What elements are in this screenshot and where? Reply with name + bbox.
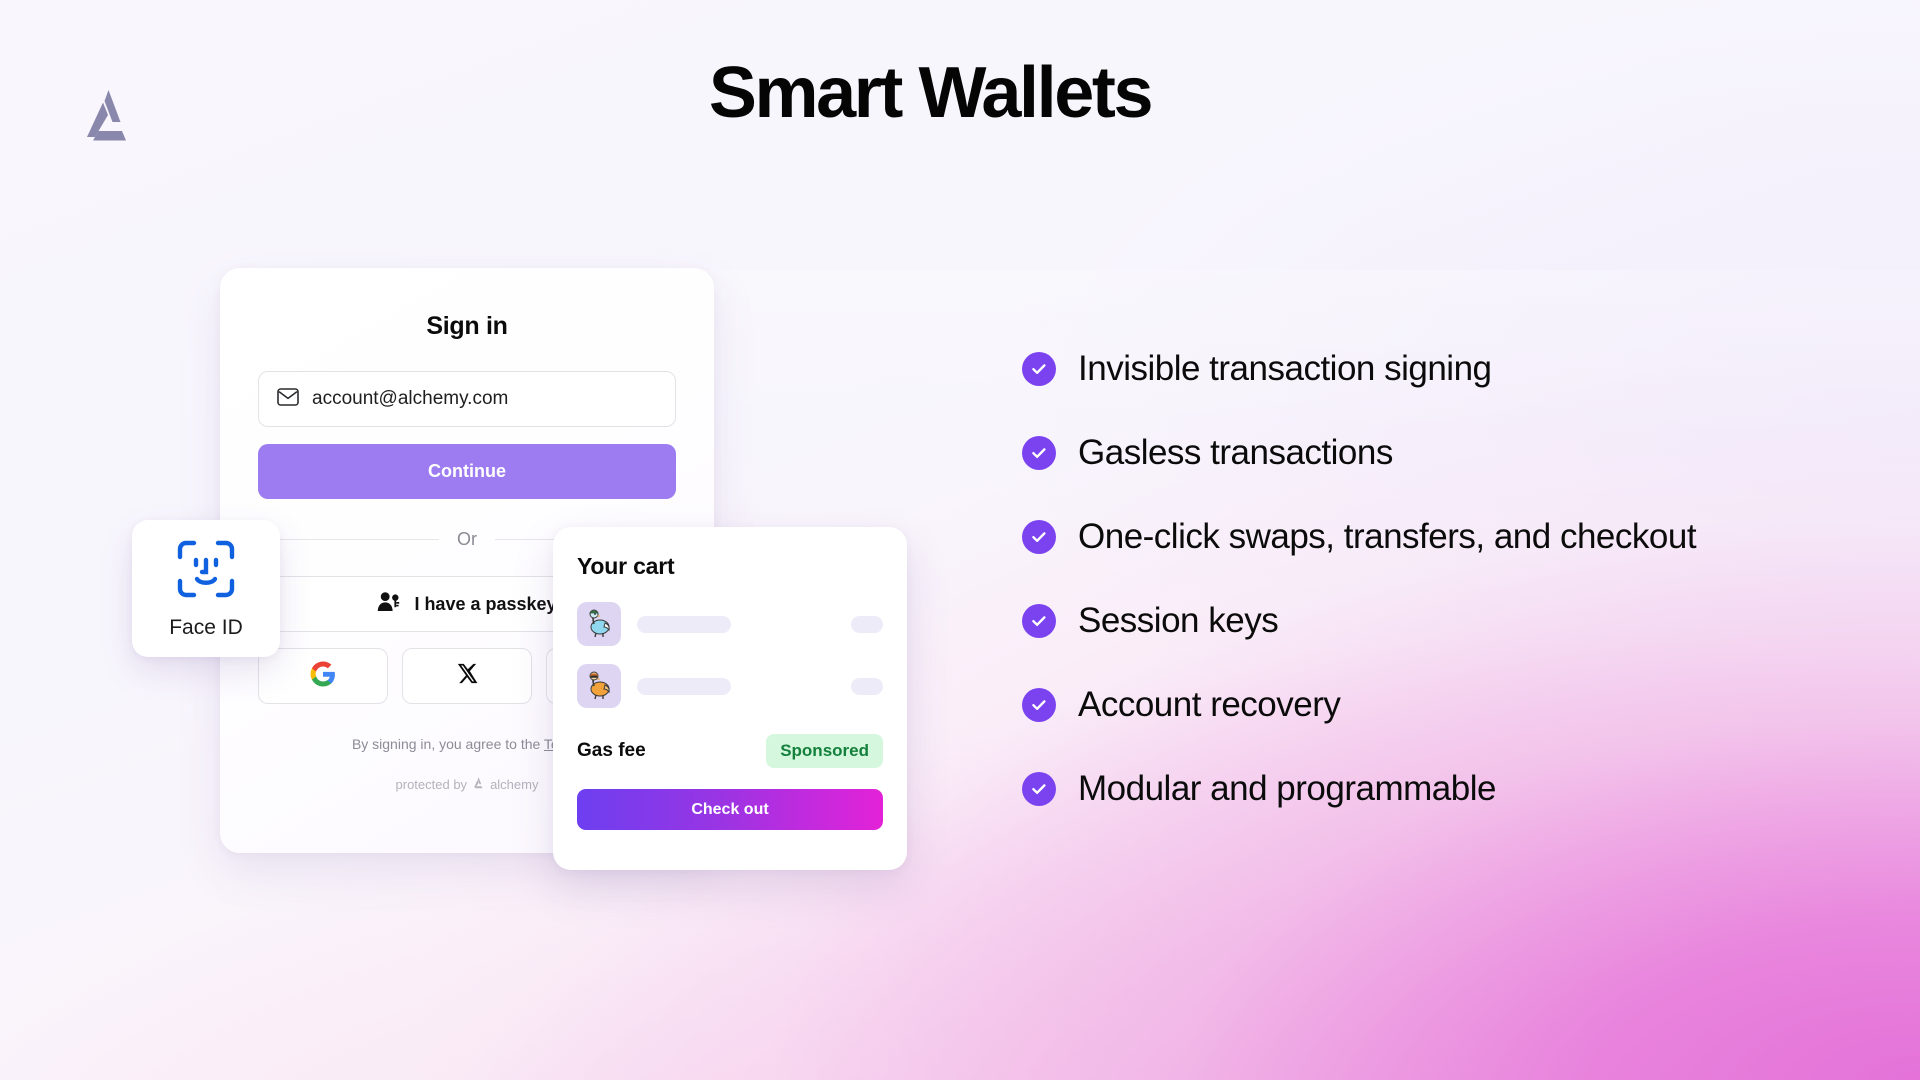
protected-prefix: protected by [396, 777, 468, 792]
email-input-value[interactable]: account@alchemy.com [312, 388, 508, 410]
signin-heading: Sign in [258, 312, 676, 341]
feature-label: Gasless transactions [1078, 433, 1393, 473]
feature-label: Account recovery [1078, 685, 1340, 725]
feature-item: Session keys [1022, 579, 1842, 663]
email-field[interactable]: account@alchemy.com [258, 371, 676, 427]
alchemy-mini-logo-icon [472, 777, 485, 792]
gas-fee-label: Gas fee [577, 740, 646, 762]
check-circle-icon [1022, 688, 1056, 722]
continue-button[interactable]: Continue [258, 444, 676, 499]
feature-label: Modular and programmable [1078, 769, 1496, 809]
x-signin-button[interactable] [402, 648, 532, 704]
status-badge: Sponsored [766, 734, 883, 768]
cart-item-row[interactable] [577, 602, 883, 646]
face-id-icon [174, 537, 238, 606]
features-list: Invisible transaction signing Gasless tr… [1022, 327, 1842, 831]
check-circle-icon [1022, 352, 1056, 386]
checkout-button[interactable]: Check out [577, 789, 883, 830]
envelope-icon [277, 388, 299, 411]
face-id-label: Face ID [169, 616, 243, 640]
passkey-label: I have a passkey [414, 594, 556, 615]
divider-line-left [258, 539, 439, 540]
face-id-card[interactable]: Face ID [132, 520, 280, 657]
feature-item: Account recovery [1022, 663, 1842, 747]
cart-card: Your cart [553, 527, 907, 870]
google-icon [310, 661, 336, 692]
cart-item-price-placeholder [851, 678, 883, 695]
cart-item-name-placeholder [637, 678, 731, 695]
x-twitter-icon [456, 662, 479, 690]
protected-brand: alchemy [490, 777, 538, 792]
feature-label: Session keys [1078, 601, 1278, 641]
feature-item: Invisible transaction signing [1022, 327, 1842, 411]
legal-prefix: By signing in, you agree to the [352, 736, 544, 752]
check-circle-icon [1022, 604, 1056, 638]
bird-nft-blue-icon [577, 602, 621, 646]
feature-label: Invisible transaction signing [1078, 349, 1492, 389]
divider-label: Or [457, 529, 477, 550]
feature-item: Gasless transactions [1022, 411, 1842, 495]
cart-item-price-placeholder [851, 616, 883, 633]
feature-label: One-click swaps, transfers, and checkout [1078, 517, 1696, 557]
bird-nft-orange-icon [577, 664, 621, 708]
feature-item: One-click swaps, transfers, and checkout [1022, 495, 1842, 579]
feature-item: Modular and programmable [1022, 747, 1842, 831]
person-key-icon [377, 591, 401, 617]
check-circle-icon [1022, 436, 1056, 470]
page-title: Smart Wallets [0, 56, 1920, 132]
google-signin-button[interactable] [258, 648, 388, 704]
cart-item-name-placeholder [637, 616, 731, 633]
page-root: Smart Wallets Sign in account@alchemy.co… [0, 0, 1920, 1080]
check-circle-icon [1022, 520, 1056, 554]
check-circle-icon [1022, 772, 1056, 806]
cart-item-row[interactable] [577, 664, 883, 708]
gas-fee-row: Gas fee Sponsored [577, 734, 883, 768]
cart-title: Your cart [577, 553, 883, 580]
